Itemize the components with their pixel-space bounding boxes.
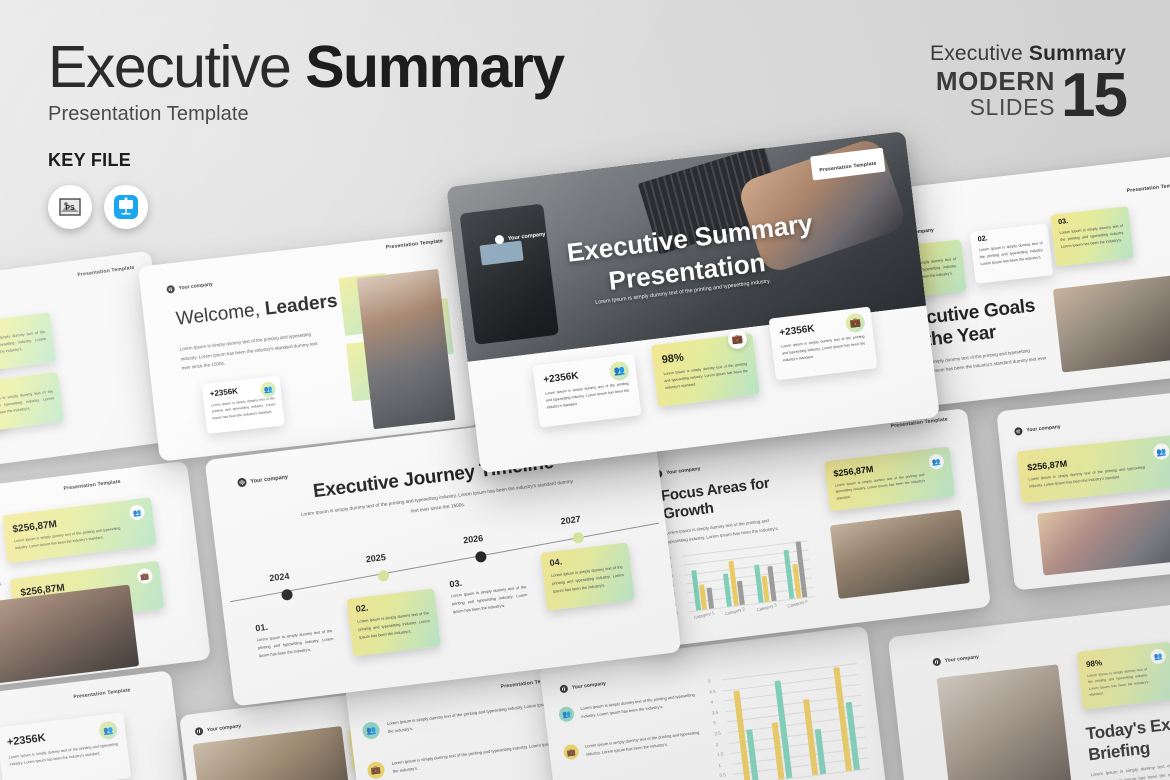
people-icon: 👥 xyxy=(609,360,630,381)
timeline-year: 2026 xyxy=(463,533,484,545)
list-item[interactable]: 👥 Lorem Ipsum is simply dummy text of th… xyxy=(362,698,573,740)
photo-laptop xyxy=(1037,498,1170,575)
timeline-item-01[interactable]: 01. Lorem Ipsum is simply dummy text of … xyxy=(255,614,335,659)
company-logo: Your company xyxy=(195,722,242,736)
slide-stat-laptop[interactable]: Your company $256,87M Lorem Ipsum is sim… xyxy=(996,385,1170,590)
timeline-node[interactable] xyxy=(475,551,487,563)
stat-text: Lorem Ipsum is simply dummy text of the … xyxy=(211,395,277,421)
briefcase-icon: 💼 xyxy=(845,312,866,333)
template-tag: Presentation Template xyxy=(386,238,444,250)
hero-stat-card-2[interactable]: 98% Lorem Ipsum is simply dummy text of … xyxy=(651,333,760,407)
meta-labels: MODERN SLIDES xyxy=(936,68,1055,119)
y-axis-tick: 3 xyxy=(713,721,716,726)
people-icon: 👥 xyxy=(98,720,118,740)
globe-icon xyxy=(166,285,175,294)
image-file-glyph: PS xyxy=(58,195,82,219)
stat-text: Lorem Ipsum is simply dummy text of the … xyxy=(545,380,631,411)
note-card[interactable]: 04. Lorem Ipsum is simply dummy text of … xyxy=(0,372,64,433)
photo-whiteboard xyxy=(937,664,1075,780)
x-axis-tick: Category 1 xyxy=(693,610,714,620)
globe-icon xyxy=(494,235,504,245)
stat-card[interactable]: $256,87M Lorem Ipsum is simply dummy tex… xyxy=(824,446,955,511)
hero-stat-card-3[interactable]: +2356K Lorem Ipsum is simply dummy text … xyxy=(769,306,878,380)
globe-icon xyxy=(1014,427,1023,436)
y-axis-tick: 3.5 xyxy=(712,710,719,716)
x-axis-tick: Category 2 xyxy=(725,606,746,616)
people-icon: 👥 xyxy=(558,706,575,723)
goal-note-03[interactable]: 03. Lorem Ipsum is simply dummy text of … xyxy=(1050,206,1133,266)
page-title: Executive Summary xyxy=(48,38,564,97)
bar-group xyxy=(684,568,720,612)
note-text: Lorem Ipsum is simply dummy text of the … xyxy=(0,388,55,419)
stat-value: +2356K xyxy=(779,323,815,338)
company-logo: Your company xyxy=(559,680,606,694)
stat-card[interactable]: $256,87M Lorem Ipsum is simply dummy tex… xyxy=(2,497,157,563)
meta-count-row: MODERN SLIDES 15 xyxy=(930,68,1126,119)
slide-title: Welcome, Leaders xyxy=(175,291,339,331)
y-axis-tick: 0.5 xyxy=(719,773,726,779)
stat-value: 98% xyxy=(1086,658,1103,669)
people-icon: 👥 xyxy=(1150,648,1167,665)
y-axis-tick: 5 xyxy=(708,678,711,683)
page-subtitle: Presentation Template xyxy=(48,103,564,126)
timeline-node[interactable] xyxy=(572,532,584,544)
y-axis-tick: 2.5 xyxy=(714,731,721,737)
photo-team xyxy=(830,509,970,599)
poster-meta: Executive Summary MODERN SLIDES 15 xyxy=(930,42,1126,119)
stat-text: Lorem Ipsum is simply dummy text of the … xyxy=(1087,666,1150,699)
stat-value: $256,87M xyxy=(1027,458,1068,472)
slide-stat-bottom-left[interactable]: Presentation Template +2356K Lorem Ipsum… xyxy=(0,670,187,780)
y-axis-tick: 2 xyxy=(715,742,718,747)
keynote-file-icon[interactable] xyxy=(104,185,148,229)
goal-note-02[interactable]: 02. Lorem Ipsum is simply dummy text of … xyxy=(970,223,1053,283)
list-item-text: Lorem Ipsum is simply dummy text of the … xyxy=(580,691,699,721)
slide-competitive-advantage[interactable]: Presentation Template Competitive Advant… xyxy=(0,461,211,700)
template-tag: Presentation Template xyxy=(77,265,135,278)
people-icon: 👥 xyxy=(129,504,146,521)
timeline-node[interactable] xyxy=(377,570,389,582)
poster-stage: Presentation Template 02. Lorem Ipsum is… xyxy=(0,0,1170,780)
item-number: 02. xyxy=(355,603,369,614)
note-text: Lorem Ipsum is simply dummy text of the … xyxy=(0,329,47,360)
slide-body: Lorem Ipsum is simply dummy text of the … xyxy=(0,570,5,603)
note-card[interactable]: 02. Lorem Ipsum is simply dummy text of … xyxy=(0,312,56,373)
list-item[interactable]: 💼 Lorem Ipsum is simply dummy text of th… xyxy=(367,737,578,779)
item-text: Lorem Ipsum is simply dummy text of the … xyxy=(551,563,625,595)
list-item[interactable]: 💼 Lorem Ipsum is simply dummy text of th… xyxy=(563,728,704,761)
keynote-glyph xyxy=(113,194,139,220)
briefcase-icon: 💼 xyxy=(136,568,153,585)
photo-woman xyxy=(357,269,456,429)
company-logo: Your company xyxy=(654,465,701,479)
x-axis-tick: Category 4 xyxy=(787,599,808,609)
timeline-item-02[interactable]: 02. Lorem Ipsum is simply dummy text of … xyxy=(347,588,441,656)
note-number: 02. xyxy=(977,235,987,243)
stat-card[interactable]: $256,87M Lorem Ipsum is simply dummy tex… xyxy=(1017,435,1170,503)
template-tag: Presentation Template xyxy=(73,687,131,700)
item-number: 04. xyxy=(549,557,563,568)
note-text: Lorem Ipsum is simply dummy text of the … xyxy=(979,240,1045,268)
note-text: Lorem Ipsum is simply dummy text of the … xyxy=(1059,223,1125,251)
stat-value: +2356K xyxy=(6,732,46,749)
slide-title: Today's Executive Briefing xyxy=(1085,708,1170,766)
y-axis-tick: 4.5 xyxy=(709,689,716,695)
slide-title: Focus Areas for Growth xyxy=(660,475,773,525)
timeline-year: 2025 xyxy=(365,552,386,564)
timeline-node[interactable] xyxy=(281,589,293,601)
timeline-year: 2027 xyxy=(560,514,581,526)
slide-todays-briefing[interactable]: Your company 98% Lorem Ipsum is simply d… xyxy=(888,600,1170,780)
globe-icon xyxy=(559,684,568,693)
photo-bookshelf xyxy=(193,726,354,780)
stat-value: +2356K xyxy=(543,371,579,386)
people-icon: 👥 xyxy=(1153,443,1170,461)
people-icon: 👥 xyxy=(928,453,945,470)
svg-text:PS: PS xyxy=(65,205,75,212)
stat-text: Lorem Ipsum is simply dummy text of the … xyxy=(663,361,749,392)
people-icon: 👥 xyxy=(362,721,381,740)
template-tag: Presentation Template xyxy=(1126,182,1170,194)
company-logo: Your company xyxy=(932,653,979,666)
stat-value: +2356K xyxy=(209,386,238,398)
hero-stat-card-1[interactable]: +2356K Lorem Ipsum is simply dummy text … xyxy=(533,354,642,428)
globe-icon xyxy=(237,477,247,487)
globe-icon xyxy=(195,727,204,736)
bar-group-container xyxy=(722,663,870,780)
item-text: Lorem Ipsum is simply dummy text of the … xyxy=(357,609,431,641)
globe-icon xyxy=(932,657,941,666)
company-logo: Your company xyxy=(1014,423,1061,436)
bar xyxy=(737,580,745,605)
stat-text: Lorem Ipsum is simply dummy text of the … xyxy=(781,333,867,364)
key-file-label: KEY FILE xyxy=(48,150,564,171)
key-file-badges: PS xyxy=(48,185,564,229)
stat-card[interactable]: 98% Lorem Ipsum is simply dummy text of … xyxy=(1077,641,1170,709)
focus-bar-chart: 0123456Category 1Category 2Category 3Cat… xyxy=(669,540,817,629)
note-number: 03. xyxy=(1058,218,1068,226)
stat-card[interactable]: +2356K Lorem Ipsum is simply dummy text … xyxy=(0,712,131,780)
briefcase-icon: 💼 xyxy=(367,761,386,780)
item-text: Lorem Ipsum is simply dummy text of the … xyxy=(256,627,334,660)
stat-value: 98% xyxy=(661,352,684,367)
stat-value: $256,87M xyxy=(833,464,874,479)
timeline-item-03[interactable]: 03. Lorem Ipsum is simply dummy text of … xyxy=(449,570,529,615)
x-axis-tick: Category 3 xyxy=(756,602,777,612)
company-logo: Your company xyxy=(166,281,213,294)
image-file-icon[interactable]: PS xyxy=(48,185,92,229)
slide-count: 15 xyxy=(1061,71,1126,122)
slide-welcome-leaders[interactable]: Your company Presentation Template Welco… xyxy=(138,230,480,461)
y-axis-tick: 1 xyxy=(718,763,721,768)
stat-card[interactable]: +2356K Lorem Ipsum is simply dummy text … xyxy=(202,376,285,435)
bar-group xyxy=(776,540,814,599)
risks-bar-chart: 00.511.522.533.544.55 xyxy=(708,663,871,780)
item-text: Lorem Ipsum is simply dummy text of the … xyxy=(450,583,528,616)
template-tag: Presentation Template xyxy=(63,479,121,492)
y-axis-tick: 1.5 xyxy=(717,752,724,758)
bar xyxy=(706,588,713,609)
photo-team-highfive xyxy=(1053,273,1170,372)
list-item[interactable]: 👥 Lorem Ipsum is simply dummy text of th… xyxy=(558,691,699,724)
slide-body: Lorem Ipsum is simply dummy text of the … xyxy=(179,329,321,374)
timeline-item-04[interactable]: 04. Lorem Ipsum is simply dummy text of … xyxy=(540,542,634,610)
y-axis-tick: 4 xyxy=(710,699,713,704)
timeline-year: 2024 xyxy=(269,571,290,583)
bar-group xyxy=(747,562,783,604)
briefcase-icon: 💼 xyxy=(563,744,580,761)
list-item-text: Lorem Ipsum is simply dummy text of the … xyxy=(585,728,704,758)
poster-header: Executive Summary Presentation Template … xyxy=(48,38,564,229)
